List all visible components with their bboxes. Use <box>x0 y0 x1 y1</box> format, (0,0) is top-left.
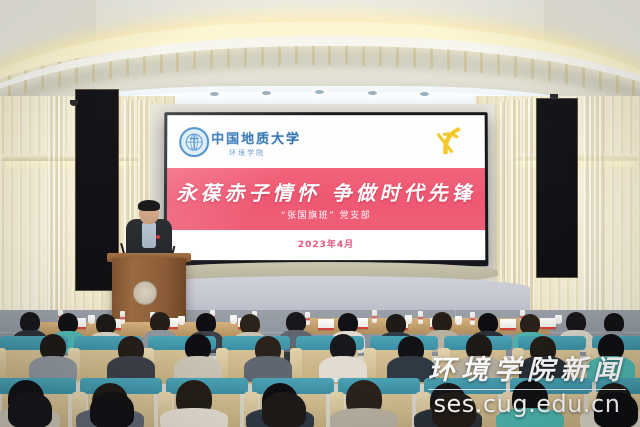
audience-shoulders <box>496 408 564 427</box>
audience-head <box>240 314 260 334</box>
audience-long-hair <box>8 392 52 427</box>
water-bottle <box>120 311 125 324</box>
downlight <box>368 91 377 95</box>
slide-main-title: 永葆赤子情怀 争做时代先锋 <box>167 177 485 206</box>
name-card <box>500 319 516 330</box>
audience-head <box>432 312 452 332</box>
audience-head <box>196 313 216 333</box>
auditorium-photo: 中国地质大学 环境学院 永葆赤子情怀 争做时代先锋 “张国旗班” 党支部 202… <box>0 0 640 427</box>
audience-head <box>150 312 170 332</box>
downlight <box>420 92 429 96</box>
speaker-hair <box>138 200 160 211</box>
audience-head <box>286 312 306 332</box>
audience-head <box>478 313 498 333</box>
audience-long-hair <box>432 392 476 427</box>
paper-cup <box>405 315 412 324</box>
paper-cup <box>88 315 95 324</box>
slide-university-name: 中国地质大学 <box>211 128 301 147</box>
university-logo-icon <box>179 127 209 157</box>
pilaster-left-a <box>48 96 64 336</box>
water-bottle <box>372 310 377 323</box>
audience-long-hair <box>594 392 638 427</box>
speaker-shirt <box>142 222 156 248</box>
audience-head <box>604 313 624 333</box>
auditorium-seat-arm <box>0 348 6 382</box>
name-card <box>318 319 334 330</box>
paper-cup <box>455 316 462 325</box>
water-bottle <box>418 311 423 324</box>
podium-university-seal-icon <box>133 281 157 305</box>
audience-head <box>20 312 40 332</box>
paper-cup <box>230 315 237 324</box>
name-card <box>540 318 556 329</box>
audience-head <box>338 313 358 333</box>
paper-cup <box>555 315 562 324</box>
downlight <box>262 91 271 95</box>
audience-head <box>386 314 406 334</box>
audience-head <box>96 314 116 334</box>
projection-screen: 中国地质大学 环境学院 永葆赤子情怀 争做时代先锋 “张国旗班” 党支部 202… <box>164 112 489 266</box>
audience-head <box>520 314 540 334</box>
speaker-lapel-badge <box>156 235 160 239</box>
slide-subtitle: “张国旗班” 党支部 <box>167 208 485 221</box>
slide-school-name: 环境学院 <box>229 148 265 158</box>
auditorium-seat-arm <box>438 348 450 382</box>
audience-shoulders <box>330 408 398 427</box>
pilaster-right-a <box>584 96 604 336</box>
presentation-slide: 中国地质大学 环境学院 永葆赤子情怀 争做时代先锋 “张国旗班” 党支部 202… <box>167 115 486 260</box>
acoustic-panel-right <box>536 98 578 278</box>
audience-head <box>58 313 78 333</box>
audience-shoulders <box>160 408 228 427</box>
hammer-and-sickle-icon <box>435 123 471 161</box>
slide-date: 2023年4月 <box>167 237 486 250</box>
water-bottle <box>470 312 475 325</box>
audience-long-hair <box>262 392 306 427</box>
security-camera-icon <box>70 100 78 106</box>
downlight <box>210 92 219 96</box>
paper-cup <box>178 316 185 325</box>
audience-head <box>566 312 586 332</box>
audience-long-hair <box>90 392 134 427</box>
security-camera-icon-right <box>550 94 558 100</box>
downlight <box>315 90 324 94</box>
